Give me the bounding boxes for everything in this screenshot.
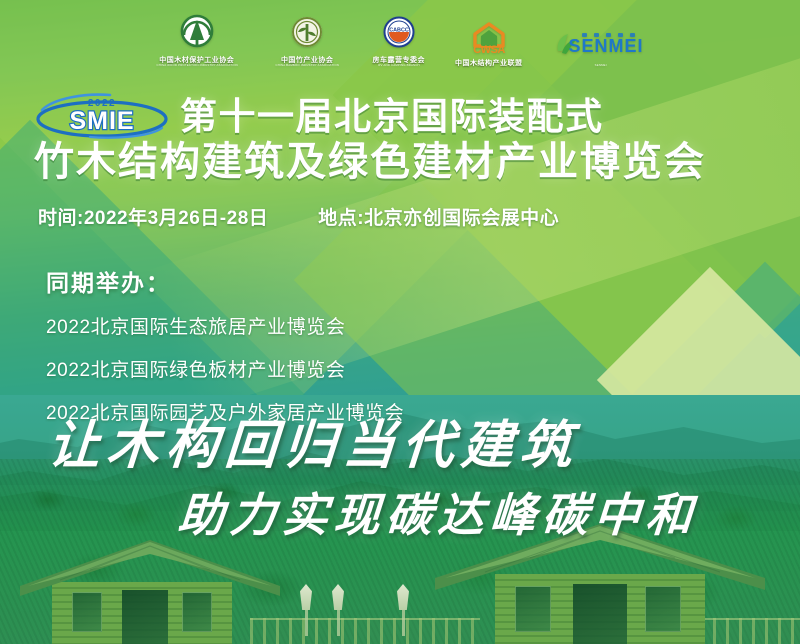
- senmei-leaf-wordmark-icon: SENMEI: [552, 29, 648, 64]
- organizer-logo-cabcc: CABCC 房车露营专委会 RV AND CAMPING BRANCH: [372, 8, 425, 68]
- bamboo-seal-icon: [288, 15, 326, 56]
- organizer-logo-cwsa: CWSA 中国木结构产业联盟: [455, 8, 523, 68]
- cabcc-badge-icon: CABCC: [380, 15, 418, 56]
- concurrent-events-heading: 同期举办：: [46, 264, 404, 298]
- event-date: 时间:2022年3月26日-28日: [38, 203, 268, 230]
- exhibition-poster: 中国木材保护工业协会 CHINA WOOD PROTECTION INDUSTR…: [0, 0, 800, 644]
- concurrent-event-item: 2022北京国际生态旅居产业博览会: [46, 312, 404, 339]
- organizer-logo-sublabel: CHINA WOOD PROTECTION INDUSTRY ASSOCIATI…: [156, 65, 237, 68]
- title-row: 2022 SMIE 第十一届北京国际装配式: [34, 92, 776, 140]
- smie-logo: 2022 SMIE: [34, 92, 170, 140]
- svg-text:CABCC: CABCC: [389, 27, 409, 33]
- organizer-logo-sublabel: SENMEI: [594, 65, 606, 68]
- page-title-line2: 竹木结构建筑及绿色建材产业博览会: [34, 140, 706, 184]
- organizer-logo-senmei: SENMEI SENMEI: [552, 8, 648, 68]
- slogan-line1: 让木构回归当代建筑: [46, 420, 581, 472]
- organizer-logo-cwpia: 中国木材保护工业协会 CHINA WOOD PROTECTION INDUSTR…: [152, 8, 242, 68]
- organizer-logo-sublabel: RV AND CAMPING BRANCH: [378, 65, 420, 68]
- concurrent-event-item: 2022北京国际绿色板材产业博览会: [46, 355, 404, 382]
- event-meta: 时间:2022年3月26日-28日 地点:北京亦创国际会展中心: [38, 203, 559, 230]
- organizer-logo-sublabel: CHINA BAMBOO INDUSTRY ASSOCIATION: [275, 65, 338, 68]
- smie-acronym: SMIE: [69, 107, 134, 135]
- svg-text:SENMEI: SENMEI: [569, 36, 644, 56]
- svg-text:CWSA: CWSA: [473, 44, 505, 54]
- event-venue: 地点:北京亦创国际会展中心: [318, 203, 559, 230]
- house-cwsa-icon: CWSA: [461, 20, 517, 59]
- pine-tree-shield-icon: [177, 13, 217, 56]
- organizer-logo-bamboo: 中国竹产业协会 CHINA BAMBOO INDUSTRY ASSOCIATIO…: [272, 8, 343, 68]
- organizer-logo-row: 中国木材保护工业协会 CHINA WOOD PROTECTION INDUSTR…: [0, 6, 800, 70]
- slogan-line2: 助力实现碳达峰碳中和: [176, 492, 699, 538]
- organizer-logo-label: 中国木结构产业联盟: [455, 60, 523, 68]
- page-title-line1: 第十一届北京国际装配式: [180, 98, 604, 135]
